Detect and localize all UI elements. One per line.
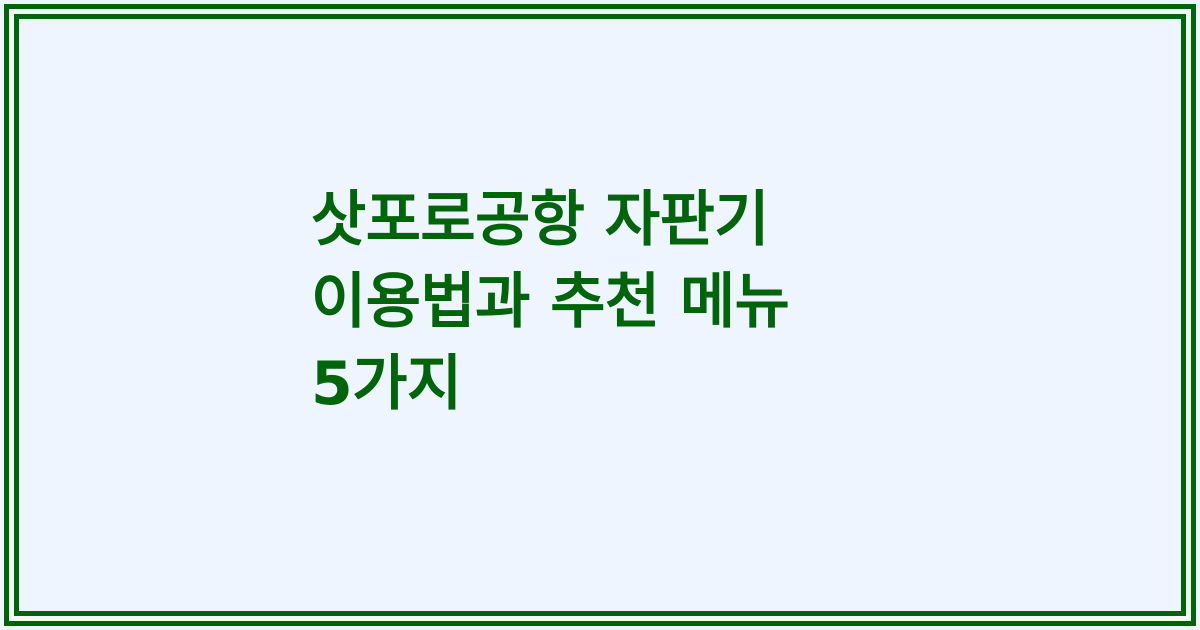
title-line-2: 이용법과 추천 메뉴 bbox=[311, 261, 1141, 343]
title-line-1: 삿포로공항 자판기 bbox=[311, 179, 1141, 261]
page-title: 삿포로공항 자판기 이용법과 추천 메뉴 5가지 bbox=[19, 179, 1181, 451]
inner-border-frame: 삿포로공항 자판기 이용법과 추천 메뉴 5가지 bbox=[14, 14, 1186, 616]
outer-border-frame: 삿포로공항 자판기 이용법과 추천 메뉴 5가지 bbox=[4, 4, 1196, 626]
title-line-3: 5가지 bbox=[311, 343, 1141, 425]
thumbnail-canvas: 삿포로공항 자판기 이용법과 추천 메뉴 5가지 bbox=[0, 0, 1200, 630]
